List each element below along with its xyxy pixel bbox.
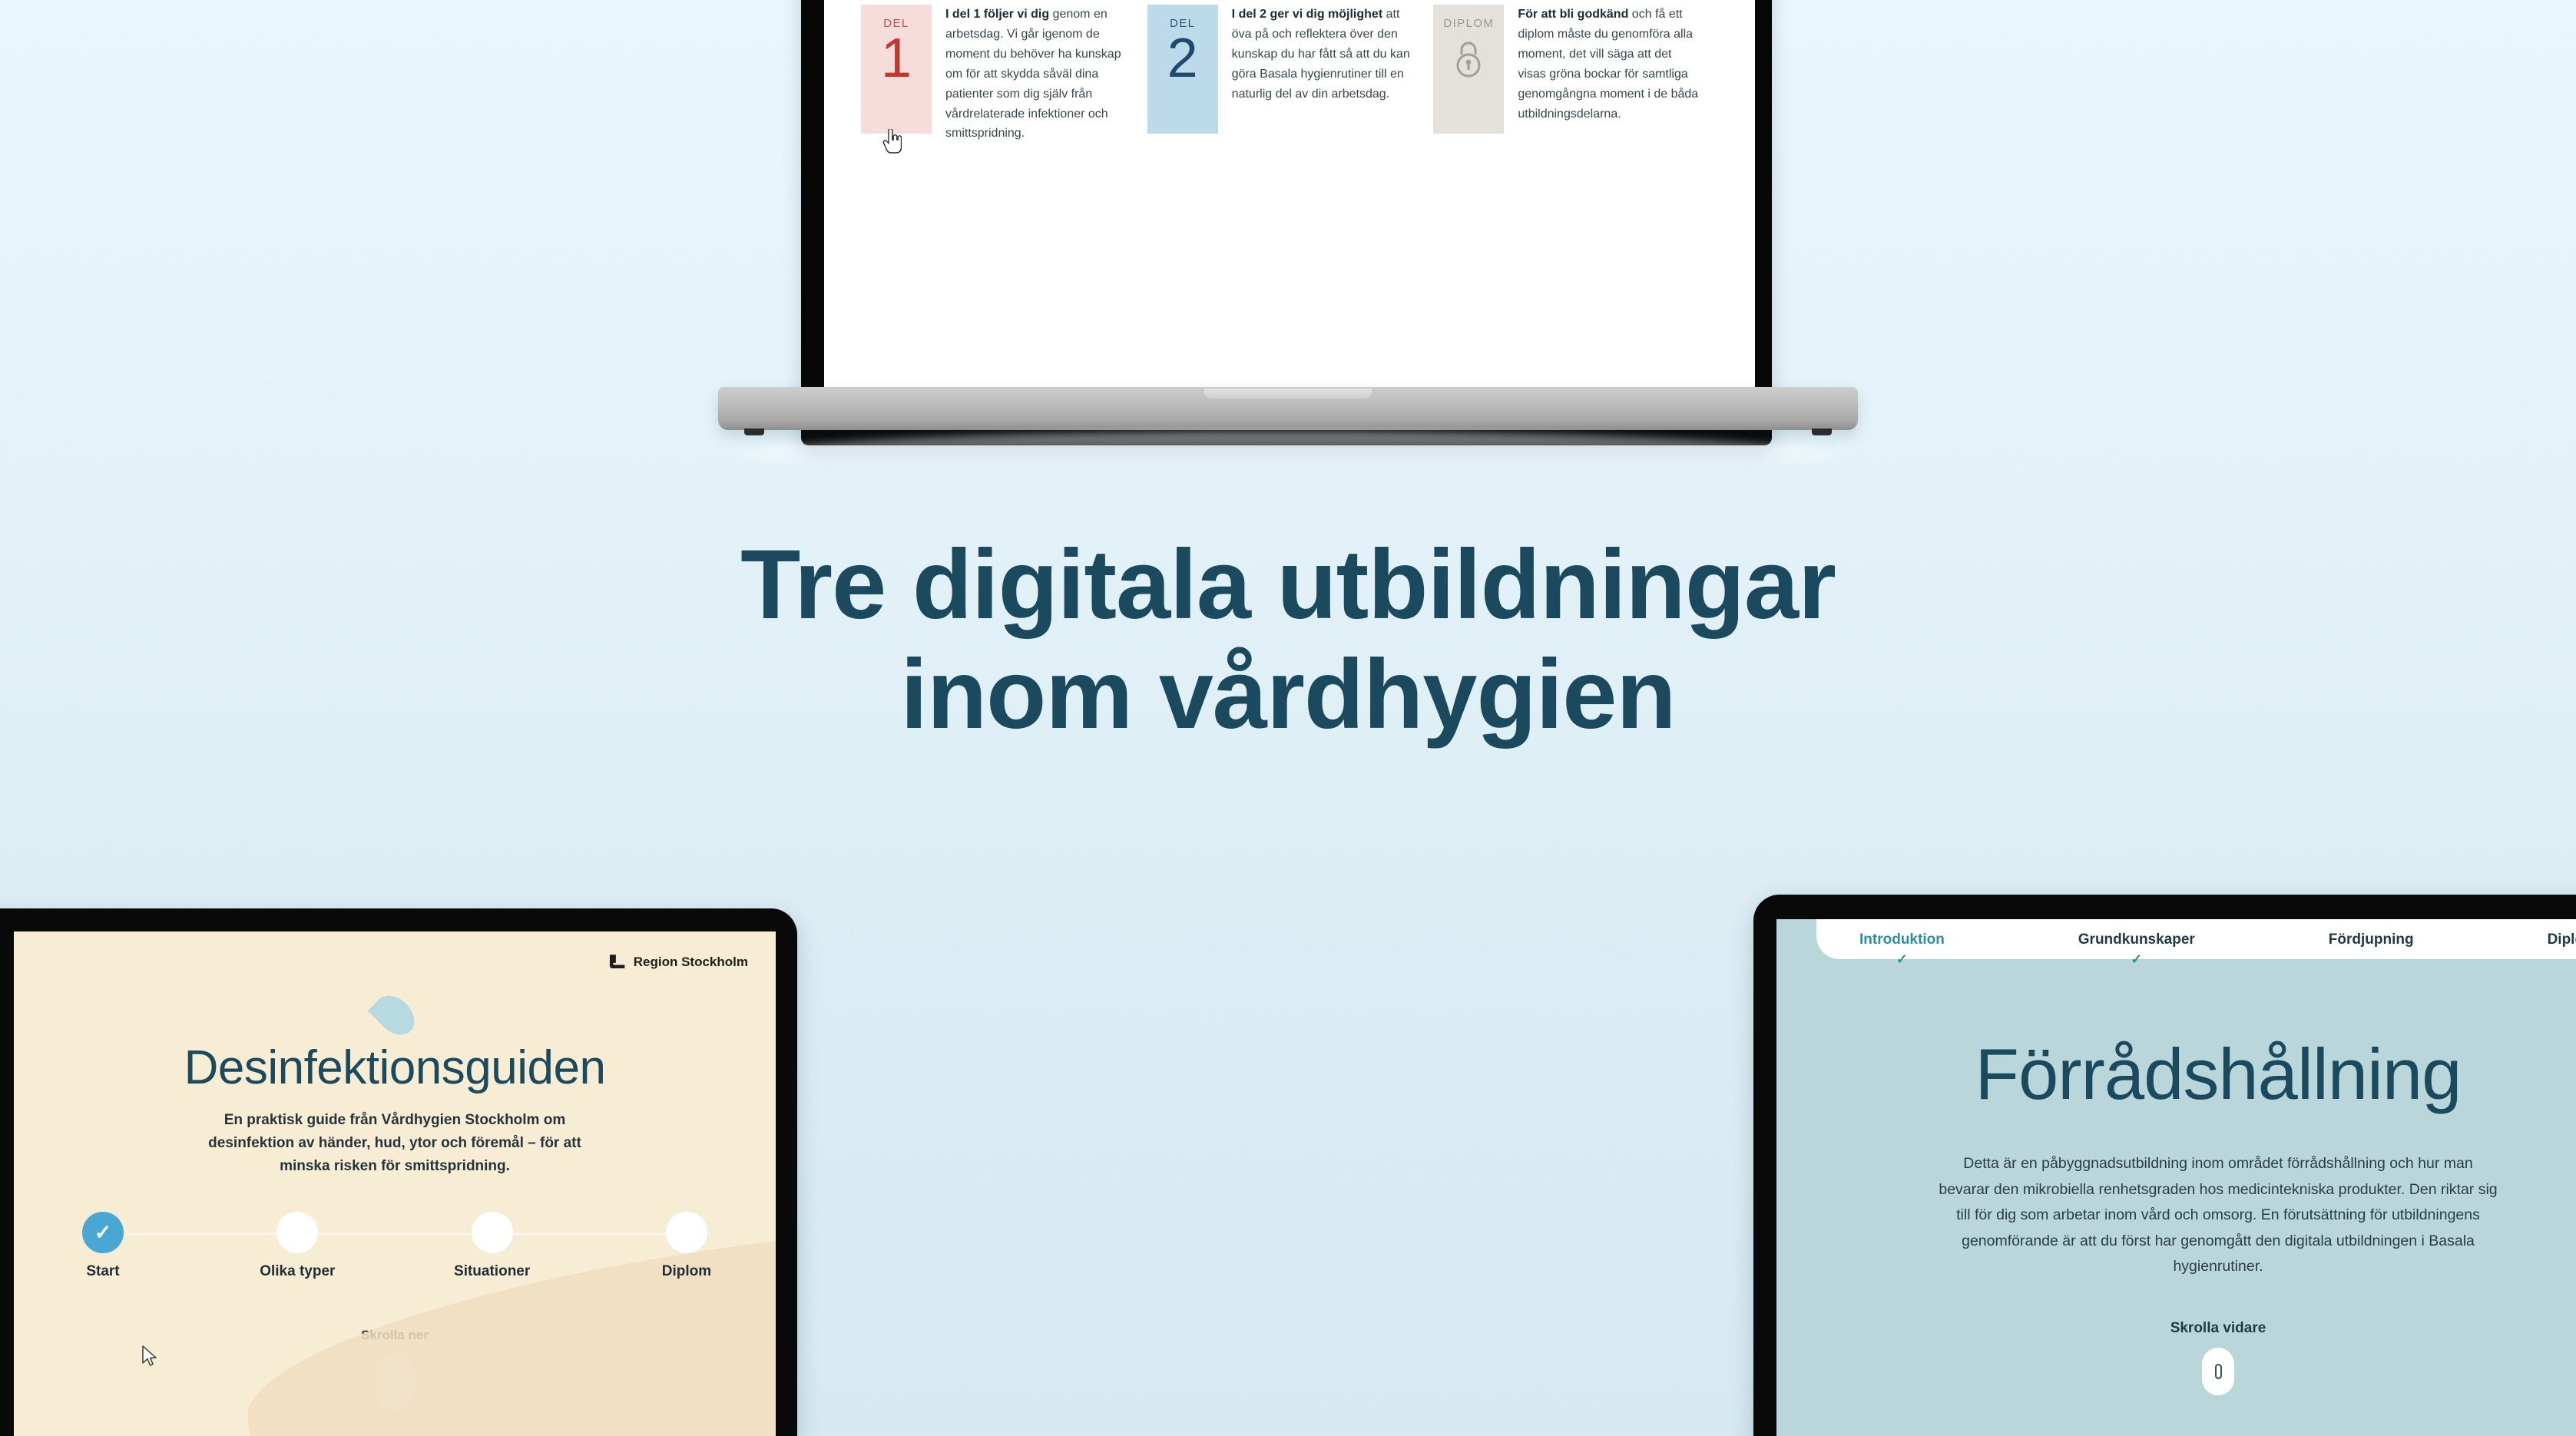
card-text: I del 2 ger vi dig möjlighet att öva på … [1232,5,1417,144]
laptop-trackpad-notch [1204,389,1372,399]
check-icon: ✓ [1896,951,1908,968]
card-lead: I del 1 följer vi dig [945,8,1049,21]
tablet-left-device: Region Stockholm Desinfektionsguiden En … [0,908,797,1436]
headline-line-1: Tre digitala utbildningar [740,530,1836,640]
card-text: För att bli godkänd och få ett diplom må… [1518,5,1703,144]
laptop-card: DEL 1 I del 1 följer vi dig genom en arb… [861,5,1147,144]
laptop-lower-section: Utbildningen är uppdelad i två delar. DE… [824,0,1755,144]
step-dot-done[interactable]: ✓ [82,1212,124,1253]
tab-diplom[interactable]: Diplom [2548,931,2576,948]
hand-cursor [882,129,902,155]
card-lead: För att bli godkänd [1518,8,1628,21]
check-icon: ✓ [94,1223,112,1243]
tab-introduktion[interactable]: Introduktion ✓ [1859,931,1945,948]
step-label: Situationer [454,1263,530,1280]
card-text: I del 1 följer vi dig genom en arbetsdag… [945,5,1131,144]
step-situationer[interactable]: Situationer [446,1212,538,1280]
water-drop-icon [368,988,422,1043]
desinfektionsguiden-topbar: Region Stockholm [14,931,776,971]
forradshallning-title: Förrådshållning [1832,1033,2576,1116]
headline-line-2: inom vårdhygien [900,640,1675,749]
region-stockholm-logo-icon [604,953,627,971]
desinfektionsguiden-subtitle: En praktisk guide från Vårdhygien Stockh… [187,1109,602,1178]
laptop-cards: DEL 1 I del 1 följer vi dig genom en arb… [824,5,1755,144]
stepper-line [83,1233,707,1235]
badge-number: 2 [1167,31,1198,86]
card-body: genom en arbetsdag. Vi går igenom de mom… [945,8,1121,140]
badge-number: 1 [881,31,912,86]
laptop-foot-right [1812,428,1832,435]
laptop-base [718,387,1858,430]
forradshallning-tabbar: Introduktion ✓ Grundkunskaper ✓ Fördjupn… [1816,919,2576,959]
forradshallning-subtitle: Detta är en påbyggnadsutbildning inom om… [1938,1151,2498,1280]
page-title: Tre digitala utbildningar inom vårdhygie… [0,530,2576,750]
step-dot[interactable] [472,1212,513,1253]
tab-label: Introduktion [1859,931,1945,948]
page-stage: Vårdhygien Stockholm Välkommen till Vård… [0,0,2576,1436]
laptop-card: DEL 2 I del 2 ger vi dig möjlighet att ö… [1147,5,1434,144]
tablet-left-screen: Region Stockholm Desinfektionsguiden En … [14,931,776,1436]
laptop-card: DIPLOM För att bli godkänd och få ett di… [1433,5,1720,144]
arrow-cursor [141,1345,158,1368]
scroll-mouse-icon-right [2202,1348,2234,1395]
laptop-foot-left [744,428,764,435]
card-body: att öva på och reflektera över den kunsk… [1232,8,1410,101]
step-start[interactable]: ✓ Start [57,1212,149,1280]
laptop-reflection [735,432,1841,479]
badge-label: DIPLOM [1443,17,1494,30]
laptop-screen: Vårdhygien Stockholm Välkommen till Vård… [824,0,1755,390]
tab-label: Fördjupning [2329,931,2414,948]
region-stockholm-logo: Region Stockholm [604,953,748,971]
tablet-right-device: Introduktion ✓ Grundkunskaper ✓ Fördjupn… [1753,895,2576,1436]
tab-label: Diplom [2548,931,2576,948]
card-body: och få ett diplom måste du genomföra all… [1518,8,1698,121]
desinfektionsguiden-title: Desinfektionsguiden [46,1041,743,1095]
lock-icon [1453,39,1484,79]
step-olika-typer[interactable]: Olika typer [251,1212,343,1280]
step-label: Start [86,1263,119,1280]
tab-fordjupning[interactable]: Fördjupning [2329,931,2414,948]
card-lead: I del 2 ger vi dig möjlighet [1232,8,1382,21]
step-label: Diplom [662,1263,711,1280]
forradshallning-body: Förrådshållning Detta är en påbyggnadsut… [1776,959,2576,1395]
step-dot[interactable] [666,1212,707,1253]
desinfektionsguiden-body: Desinfektionsguiden En praktisk guide fr… [14,971,776,1178]
tablet-right-screen: Introduktion ✓ Grundkunskaper ✓ Fördjupn… [1776,919,2576,1436]
card-badge-del-2: DEL 2 [1147,5,1218,134]
step-label: Olika typer [260,1263,335,1280]
laptop-device: Vårdhygien Stockholm Välkommen till Vård… [801,0,1772,445]
laptop-lid: Vårdhygien Stockholm Välkommen till Vård… [801,0,1772,445]
check-icon: ✓ [2131,951,2142,968]
scroll-hint-right: Skrolla vidare [1832,1320,2576,1337]
tab-grundkunskaper[interactable]: Grundkunskaper ✓ [2078,931,2195,948]
tab-label: Grundkunskaper [2078,931,2195,948]
region-stockholm-logo-text: Region Stockholm [634,955,748,970]
step-diplom[interactable]: Diplom [641,1212,733,1280]
card-badge-diplom: DIPLOM [1433,5,1504,134]
step-dot[interactable] [276,1212,318,1253]
card-badge-del-1: DEL 1 [861,5,932,134]
